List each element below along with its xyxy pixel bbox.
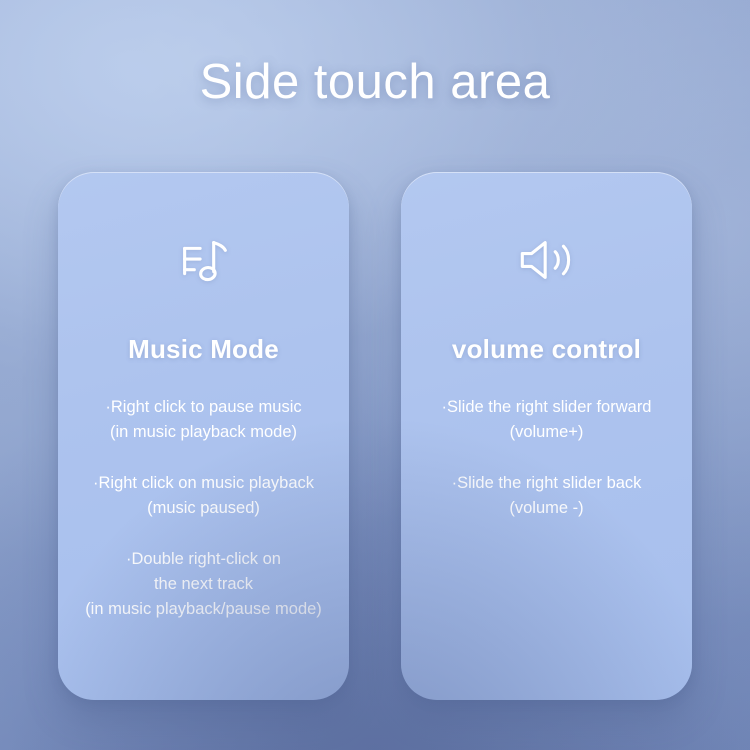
page-title: Side touch area bbox=[0, 54, 750, 110]
instruction-line: (volume+) bbox=[415, 420, 678, 445]
instruction-line: ·Slide the right slider back bbox=[415, 471, 678, 496]
volume-speaker-icon bbox=[515, 224, 579, 296]
instruction-line: ·Slide the right slider forward bbox=[415, 395, 678, 420]
instruction-group: ·Right click to pause music (in music pl… bbox=[72, 395, 335, 445]
card-title: volume control bbox=[452, 334, 641, 365]
instruction-line: ·Right click on music playback bbox=[72, 471, 335, 496]
instruction-line: the next track bbox=[72, 572, 335, 597]
instruction-line: (in music playback mode) bbox=[72, 420, 335, 445]
instruction-line: ·Right click to pause music bbox=[72, 395, 335, 420]
card-instruction-list: ·Right click to pause music (in music pl… bbox=[72, 395, 335, 622]
instruction-group: ·Right click on music playback (music pa… bbox=[72, 471, 335, 521]
instruction-group: ·Slide the right slider back (volume -) bbox=[415, 471, 678, 521]
instruction-group: ·Slide the right slider forward (volume+… bbox=[415, 395, 678, 445]
instruction-group: ·Double right-click on the next track (i… bbox=[72, 547, 335, 622]
cards-container: Music Mode ·Right click to pause music (… bbox=[0, 172, 750, 700]
card-title: Music Mode bbox=[128, 334, 279, 365]
card-music-mode[interactable]: Music Mode ·Right click to pause music (… bbox=[58, 172, 349, 700]
instruction-line: (music paused) bbox=[72, 496, 335, 521]
music-note-icon bbox=[173, 224, 235, 296]
card-volume-control[interactable]: volume control ·Slide the right slider f… bbox=[401, 172, 692, 700]
instruction-line: (in music playback/pause mode) bbox=[72, 597, 335, 622]
poster-root: Side touch area Music Mode ·Right click … bbox=[0, 0, 750, 750]
instruction-line: ·Double right-click on bbox=[72, 547, 335, 572]
instruction-line: (volume -) bbox=[415, 496, 678, 521]
card-instruction-list: ·Slide the right slider forward (volume+… bbox=[415, 395, 678, 521]
